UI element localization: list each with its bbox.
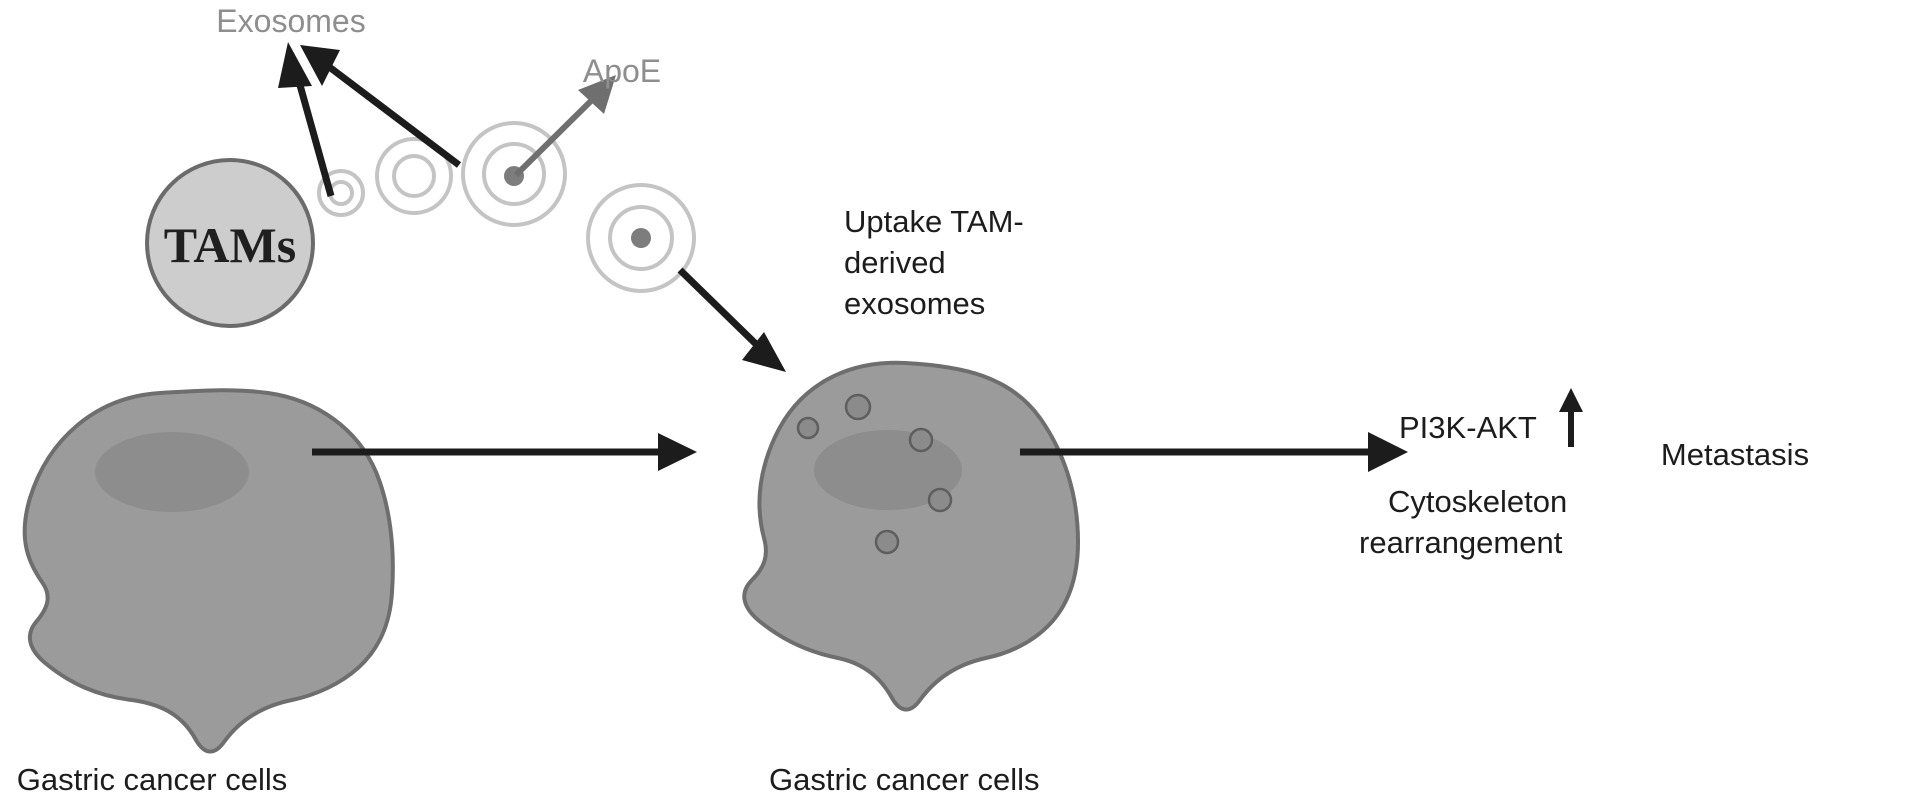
uptake-caption: Uptake TAM- derived exosomes xyxy=(844,204,1024,321)
uptake-arrow xyxy=(680,270,786,372)
apoe-label: ApoE xyxy=(583,53,661,89)
exosomes-label: Exosomes xyxy=(216,3,365,39)
cell-right-caption: Gastric cancer cells xyxy=(769,762,1039,797)
internal-exosome-dot xyxy=(910,429,932,451)
vesicle-inner-ring xyxy=(394,156,434,196)
exosome-vesicle-group xyxy=(319,123,694,291)
cell-membrane-right xyxy=(744,363,1078,710)
arrowhead xyxy=(658,433,697,471)
cell-left-caption: Gastric cancer cells xyxy=(17,762,287,797)
metastasis-label: Metastasis xyxy=(1661,437,1809,472)
exosome-arrow-2 xyxy=(300,45,459,165)
internal-exosome-dot xyxy=(929,489,951,511)
apoe-cargo-dot xyxy=(631,228,651,248)
exosome-vesicle-4 xyxy=(588,185,694,291)
internal-exosome-dot xyxy=(846,395,870,419)
internal-exosome-dot xyxy=(876,531,898,553)
figure-canvas: TAMs xyxy=(0,0,1913,807)
metastasis-arrow xyxy=(1020,432,1408,472)
cytoskeleton-line-1: Cytoskeleton xyxy=(1388,484,1567,519)
uptake-line-3: exosomes xyxy=(844,286,985,321)
uptake-line-1: Uptake TAM- xyxy=(844,204,1024,239)
cell-nucleus-left xyxy=(95,432,249,512)
pi3k-upregulation-arrow-icon xyxy=(1559,388,1583,447)
gastric-cancer-cell-right xyxy=(744,363,1078,710)
gastric-cancer-cell-left xyxy=(25,390,393,751)
cytoskeleton-line-2: rearrangement xyxy=(1359,525,1563,560)
tams-label: TAMs xyxy=(164,217,296,273)
uptake-line-2: derived xyxy=(844,245,946,280)
internal-exosome-dot xyxy=(798,418,818,438)
tam-macrophage: TAMs xyxy=(147,160,313,326)
pathway-diagram: TAMs xyxy=(0,0,1913,807)
pi3k-akt-label: PI3K-AKT xyxy=(1399,410,1537,445)
